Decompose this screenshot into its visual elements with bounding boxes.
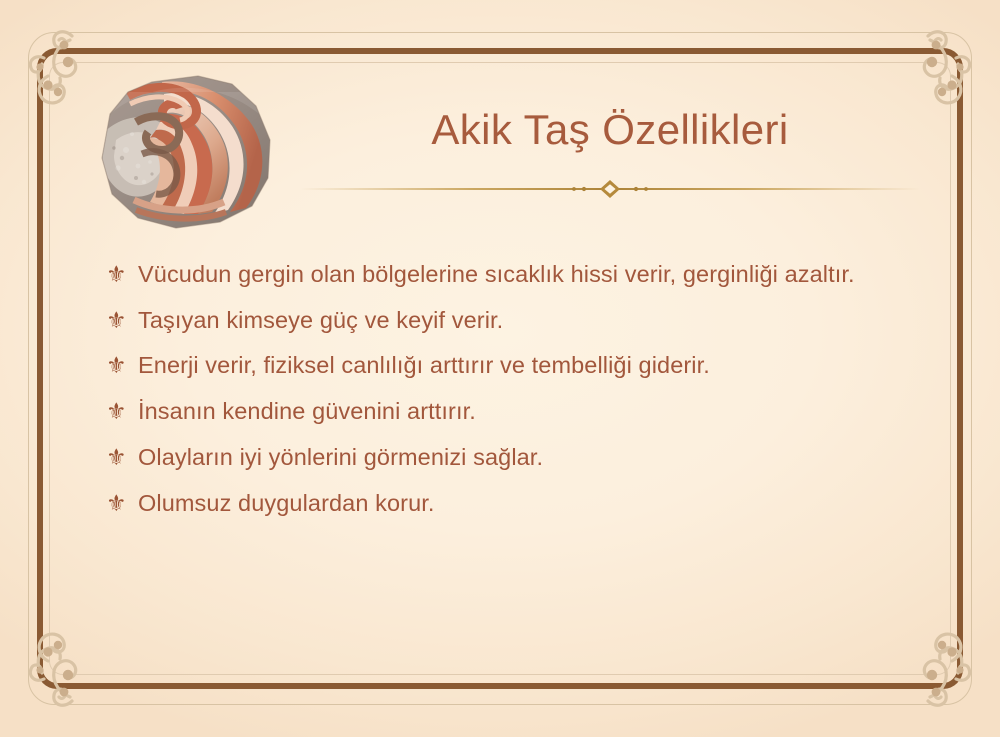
feature-text: İnsanın kendine güvenini arttırır. — [138, 395, 930, 427]
feature-text: Olumsuz duygulardan korur. — [138, 487, 930, 519]
feature-text: Vücudun gergin olan bölgelerine sıcaklık… — [138, 258, 930, 290]
title-divider — [300, 180, 920, 198]
feature-text: Olayların iyi yönlerini görmenizi sağlar… — [138, 441, 930, 473]
akik-info-card: Akik Taş Özellikleri ⚜ Vücud — [0, 0, 1000, 737]
card-header: Akik Taş Özellikleri — [300, 108, 920, 198]
divider-diamond-icon — [550, 180, 670, 203]
corner-ornament-bottom-left-icon — [14, 603, 134, 723]
features-list: ⚜ Vücudun gergin olan bölgelerine sıcakl… — [106, 258, 930, 532]
feature-text: Enerji verir, fiziksel canlılığı arttırı… — [138, 349, 930, 381]
feature-text: Taşıyan kimseye güç ve keyif verir. — [138, 304, 930, 336]
fleur-de-lis-icon: ⚜ — [106, 396, 138, 428]
fleur-de-lis-icon: ⚜ — [106, 442, 138, 474]
list-item: ⚜ Olayların iyi yönlerini görmenizi sağl… — [106, 441, 930, 474]
fleur-de-lis-icon: ⚜ — [106, 305, 138, 337]
corner-ornament-bottom-right-icon — [866, 603, 986, 723]
list-item: ⚜ Olumsuz duygulardan korur. — [106, 487, 930, 520]
page-title: Akik Taş Özellikleri — [300, 108, 920, 152]
fleur-de-lis-icon: ⚜ — [106, 259, 138, 291]
akik-stone-image — [80, 62, 292, 237]
list-item: ⚜ Vücudun gergin olan bölgelerine sıcakl… — [106, 258, 930, 291]
list-item: ⚜ İnsanın kendine güvenini arttırır. — [106, 395, 930, 428]
fleur-de-lis-icon: ⚜ — [106, 350, 138, 382]
list-item: ⚜ Taşıyan kimseye güç ve keyif verir. — [106, 304, 930, 337]
list-item: ⚜ Enerji verir, fiziksel canlılığı arttı… — [106, 349, 930, 382]
fleur-de-lis-icon: ⚜ — [106, 488, 138, 520]
